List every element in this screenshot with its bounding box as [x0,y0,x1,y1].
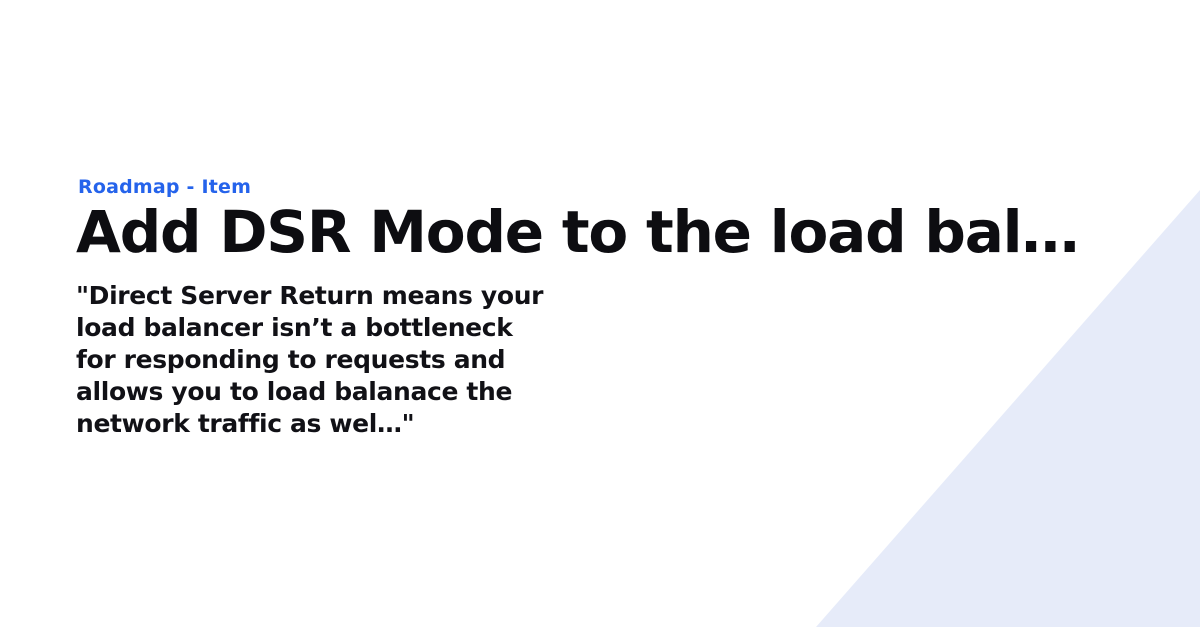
excerpt-line: network traffic as wel…" [76,408,616,440]
excerpt-quote: "Direct Server Return means your load ba… [76,280,616,440]
excerpt-line: "Direct Server Return means your [76,280,616,312]
breadcrumb-eyebrow: Roadmap - Item [78,178,1156,197]
card-content: Roadmap - Item Add DSR Mode to the load … [76,178,1156,440]
page-title: Add DSR Mode to the load bal… [76,201,1156,264]
excerpt-line: for responding to requests and [76,344,616,376]
social-preview-card: Roadmap - Item Add DSR Mode to the load … [0,0,1200,627]
excerpt-line: load balancer isn’t a bottleneck [76,312,616,344]
excerpt-line: allows you to load balanace the [76,376,616,408]
